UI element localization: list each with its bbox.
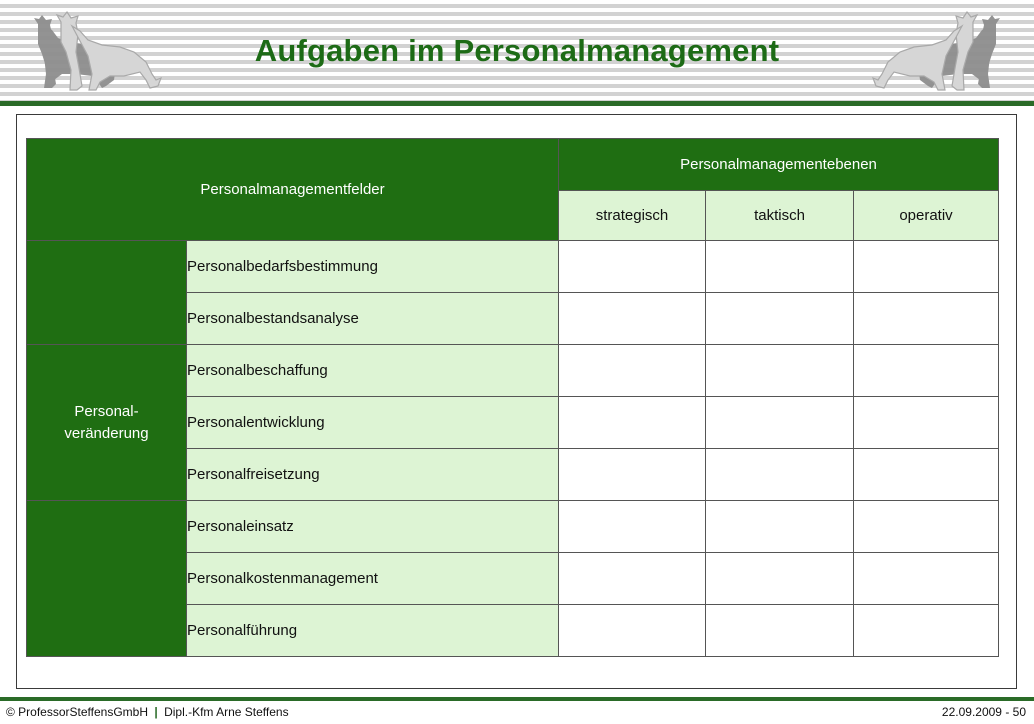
field-label: Personalbestandsanalyse	[187, 293, 559, 345]
value-cell-operativ[interactable]	[854, 605, 999, 657]
header-band: Aufgaben im Personalmanagement	[0, 0, 1034, 101]
group-label-1	[27, 241, 187, 345]
value-cell-strategisch[interactable]	[559, 501, 706, 553]
value-cell-operativ[interactable]	[854, 397, 999, 449]
value-cell-taktisch[interactable]	[706, 293, 854, 345]
slide-canvas: Aufgaben im Personalmanagement P	[0, 0, 1034, 724]
footer-copyright: © ProfessorSteffensGmbH	[6, 705, 148, 719]
table-header-row-1: Personalmanagementfelder Personalmanagem…	[27, 139, 999, 191]
value-cell-taktisch[interactable]	[706, 553, 854, 605]
value-cell-operativ[interactable]	[854, 293, 999, 345]
value-cell-taktisch[interactable]	[706, 605, 854, 657]
field-label: Personalkostenmanagement	[187, 553, 559, 605]
value-cell-taktisch[interactable]	[706, 449, 854, 501]
personalmanagement-matrix-table: Personalmanagementfelder Personalmanagem…	[26, 138, 999, 657]
field-label: Personalbedarfsbestimmung	[187, 241, 559, 293]
field-label: Personalfreisetzung	[187, 449, 559, 501]
value-cell-strategisch[interactable]	[559, 449, 706, 501]
value-cell-strategisch[interactable]	[559, 293, 706, 345]
group-label-2: Personal- veränderung	[27, 345, 187, 501]
field-label: Personalbeschaffung	[187, 345, 559, 397]
column-header-operativ: operativ	[854, 191, 999, 241]
footer-separator: |	[151, 705, 160, 719]
page-title: Aufgaben im Personalmanagement	[0, 0, 1034, 101]
value-cell-operativ[interactable]	[854, 501, 999, 553]
footer-credit: © ProfessorSteffensGmbH | Dipl.-Kfm Arne…	[6, 705, 289, 719]
table-row: Personaleinsatz	[27, 501, 999, 553]
column-header-taktisch: taktisch	[706, 191, 854, 241]
value-cell-strategisch[interactable]	[559, 241, 706, 293]
value-cell-strategisch[interactable]	[559, 605, 706, 657]
column-header-strategisch: strategisch	[559, 191, 706, 241]
table-row: Personalbedarfsbestimmung	[27, 241, 999, 293]
value-cell-operativ[interactable]	[854, 449, 999, 501]
value-cell-strategisch[interactable]	[559, 553, 706, 605]
value-cell-operativ[interactable]	[854, 241, 999, 293]
group-label-2-line1: Personal-	[74, 403, 138, 420]
value-cell-operativ[interactable]	[854, 345, 999, 397]
value-cell-taktisch[interactable]	[706, 397, 854, 449]
table-row: Personal- veränderung Personalbeschaffun…	[27, 345, 999, 397]
value-cell-strategisch[interactable]	[559, 397, 706, 449]
field-label: Personaleinsatz	[187, 501, 559, 553]
group-label-2-line2: veränderung	[64, 425, 148, 442]
field-label: Personalentwicklung	[187, 397, 559, 449]
value-cell-taktisch[interactable]	[706, 241, 854, 293]
value-cell-strategisch[interactable]	[559, 345, 706, 397]
field-label: Personalführung	[187, 605, 559, 657]
footer-date-page: 22.09.2009 - 50	[942, 705, 1026, 719]
footer-bar: © ProfessorSteffensGmbH | Dipl.-Kfm Arne…	[0, 701, 1034, 724]
group-label-3	[27, 501, 187, 657]
value-cell-taktisch[interactable]	[706, 501, 854, 553]
value-cell-taktisch[interactable]	[706, 345, 854, 397]
footer-author: Dipl.-Kfm Arne Steffens	[164, 705, 289, 719]
header-divider-rule	[0, 101, 1034, 106]
header-personalmanagementebenen: Personalmanagementebenen	[559, 139, 999, 191]
value-cell-operativ[interactable]	[854, 553, 999, 605]
header-personalmanagementfelder: Personalmanagementfelder	[27, 139, 559, 241]
